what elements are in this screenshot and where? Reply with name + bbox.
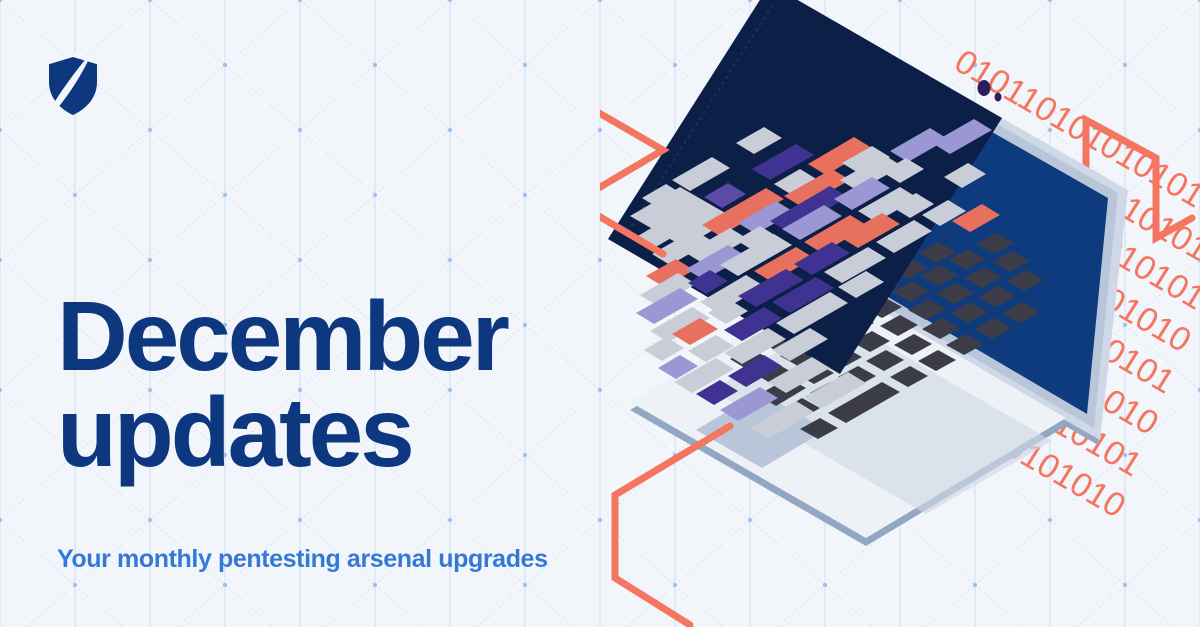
shield-icon bbox=[45, 50, 98, 118]
brand-logo[interactable] bbox=[44, 48, 102, 118]
page-title: December updates bbox=[57, 288, 677, 480]
page-subtitle: Your monthly pentesting arsenal upgrades bbox=[57, 545, 548, 574]
hero-illustration: 010110101010101010 010101001010101010 10… bbox=[600, 0, 1200, 627]
banner: December updates Your monthly pentesting… bbox=[0, 0, 1200, 627]
